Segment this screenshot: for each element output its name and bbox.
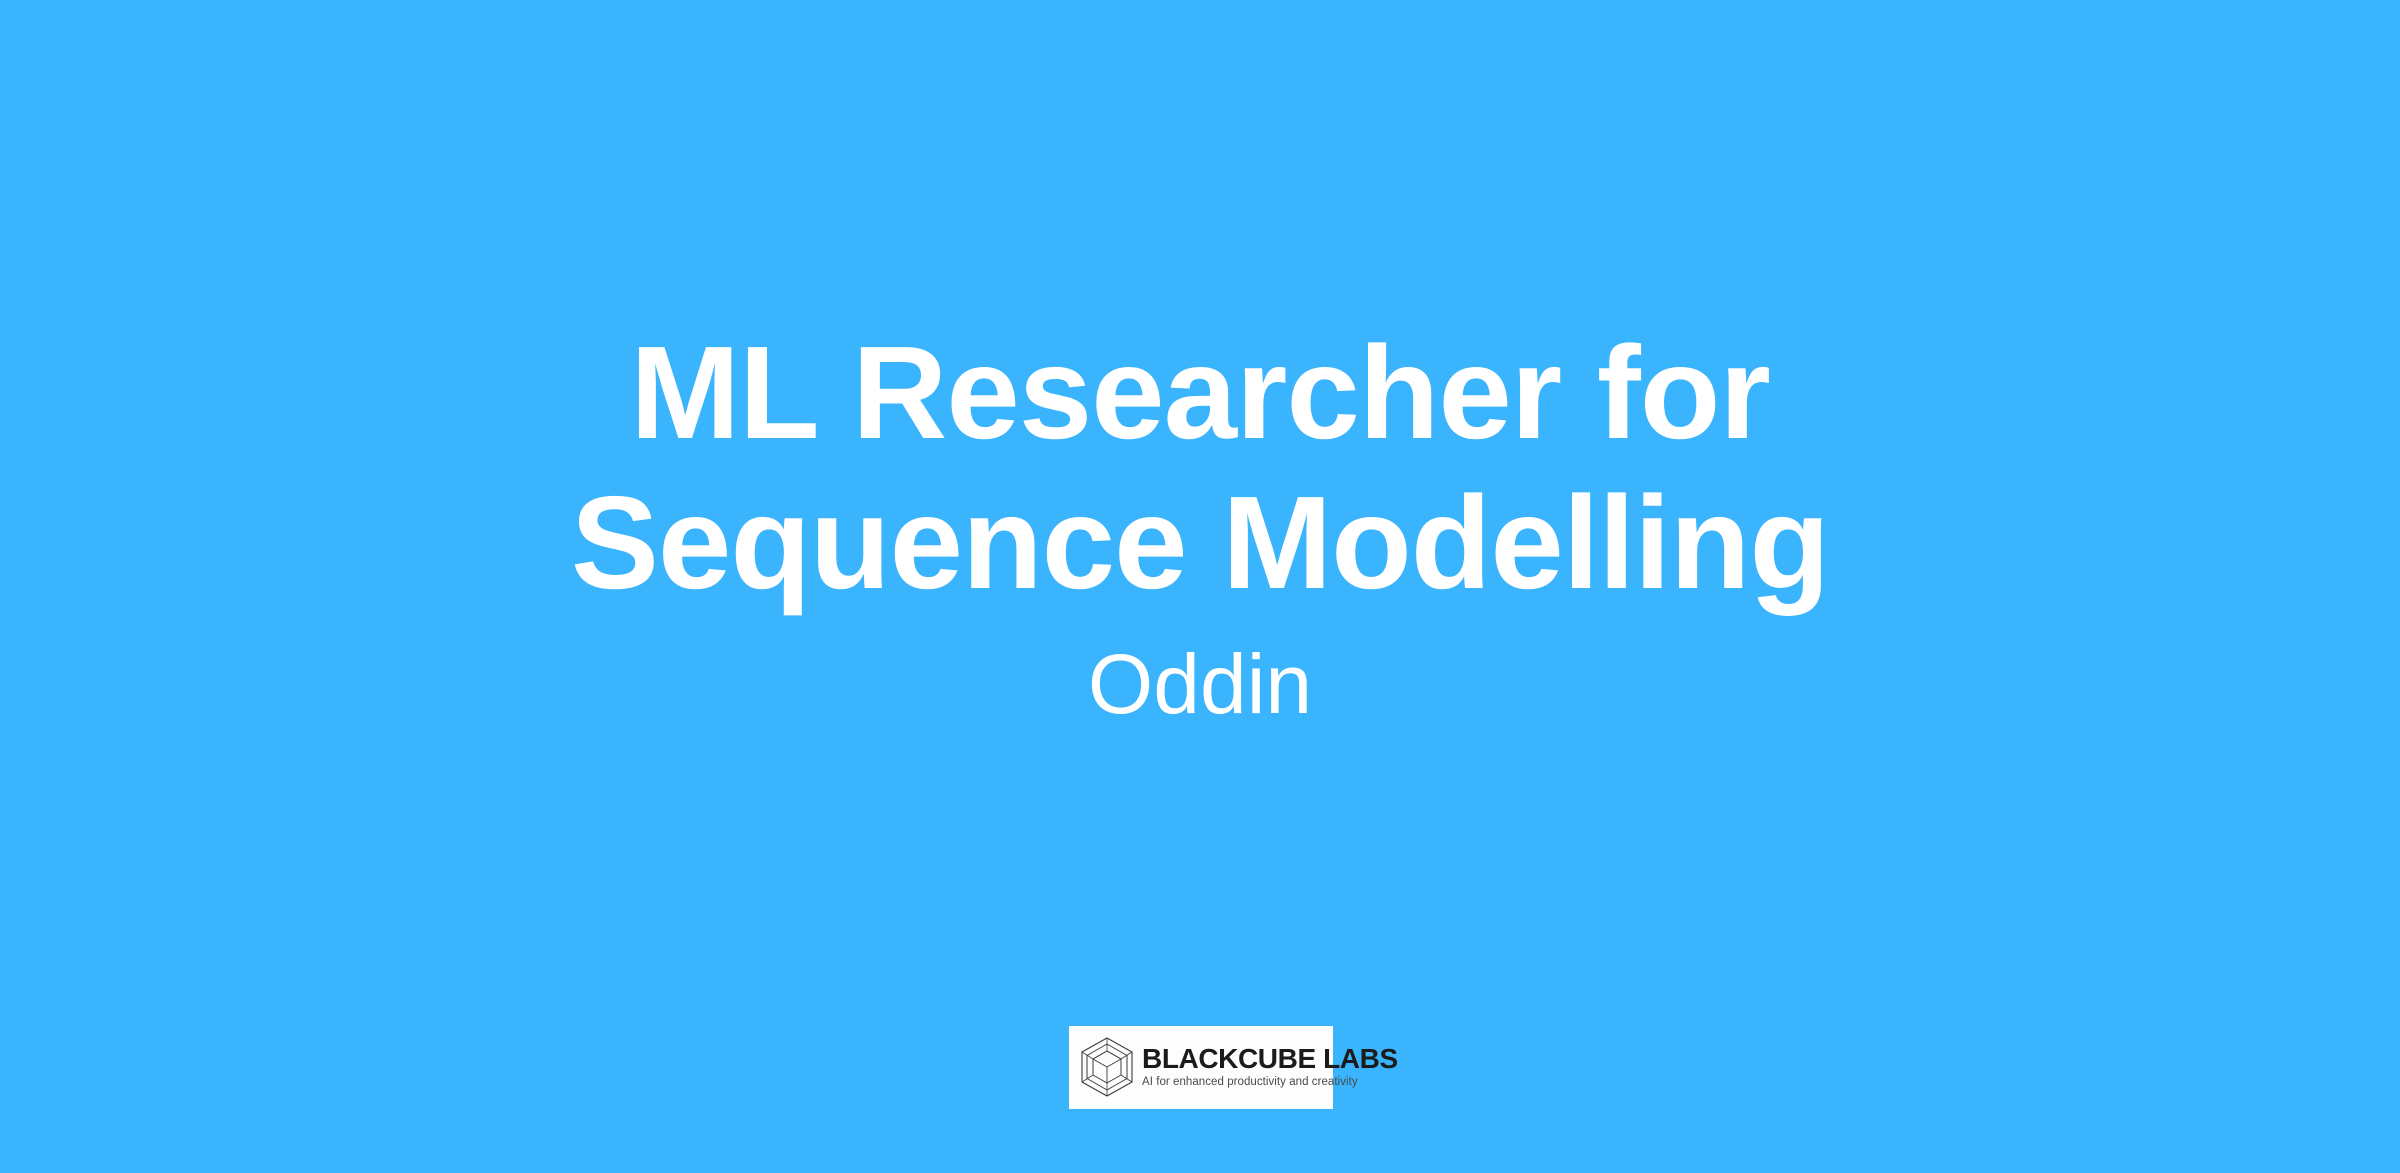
logo-tagline: AI for enhanced productivity and creativ…: [1142, 1075, 1398, 1089]
page-title: ML Researcher for Sequence Modelling: [380, 318, 2020, 618]
title-slide: ML Researcher for Sequence Modelling Odd…: [0, 0, 2400, 1173]
logo-wordmark: BLACKCUBE LABS: [1142, 1044, 1398, 1074]
title-block: ML Researcher for Sequence Modelling Odd…: [0, 0, 2400, 1173]
logo-text-group: BLACKCUBE LABS AI for enhanced productiv…: [1142, 1044, 1398, 1091]
brand-logo: BLACKCUBE LABS AI for enhanced productiv…: [1069, 1026, 1333, 1109]
blackcube-logo-icon: [1076, 1035, 1138, 1101]
page-subtitle: Oddin: [1088, 636, 1312, 732]
